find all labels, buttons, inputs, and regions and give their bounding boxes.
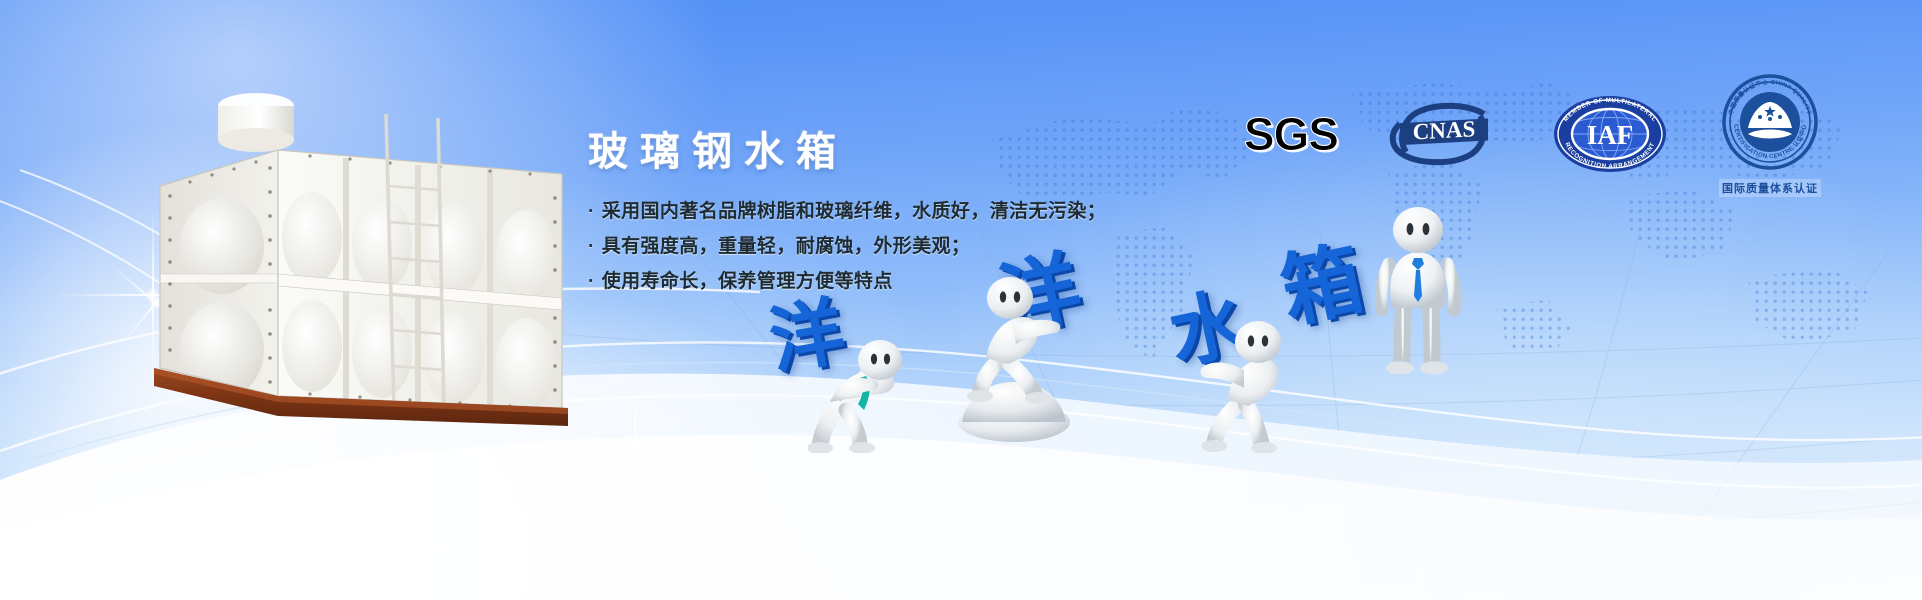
product-image-frp-water-tank: [150, 78, 570, 438]
cert-logo-sgs: SGS: [1244, 111, 1338, 157]
mascot-figure-bowing-green-tie: [808, 318, 918, 453]
bullet-text: 具有强度高，重量轻，耐腐蚀，外形美观；: [602, 236, 971, 257]
list-item: ·具有强度高，重量轻，耐腐蚀，外形美观；: [588, 229, 1228, 264]
sgs-wordmark: SGS: [1244, 111, 1338, 157]
iaf-icon: IAF MEMBER OF MULTILATERAL RECOGNITION A…: [1548, 94, 1672, 174]
iaf-wordmark: IAF: [1587, 120, 1634, 150]
bullet-text: 采用国内著名品牌树脂和玻璃纤维，水质好，清洁无污染；: [602, 201, 1106, 222]
bullet-marker: ·: [588, 194, 595, 229]
cert-logo-quality-system: 中国质量认证中心 CHINA QUALITY CERTIFICATION CEN…: [1718, 70, 1822, 197]
bullet-text: 使用寿命长，保养管理方便等特点: [602, 271, 893, 292]
frp-water-tank-illustration: [150, 78, 570, 438]
mascot-figure-on-rock: [952, 264, 1082, 444]
quality-system-caption: 国际质量体系认证: [1719, 179, 1821, 197]
list-item: ·使用寿命长，保养管理方便等特点: [588, 264, 1228, 299]
quality-system-seal-icon: 中国质量认证中心 CHINA QUALITY CERTIFICATION CEN…: [1718, 70, 1822, 174]
certification-logo-row: SGS CNAS: [1244, 70, 1822, 197]
page-title: 玻璃钢水箱: [588, 132, 1228, 172]
cert-logo-iaf: IAF MEMBER OF MULTILATERAL RECOGNITION A…: [1548, 94, 1672, 174]
banner-text-block: 玻璃钢水箱 ·采用国内著名品牌树脂和玻璃纤维，水质好，清洁无污染； ·具有强度高…: [588, 132, 1228, 299]
cnas-wordmark: CNAS: [1413, 115, 1476, 144]
list-item: ·采用国内著名品牌树脂和玻璃纤维，水质好，清洁无污染；: [588, 194, 1228, 229]
cert-logo-cnas: CNAS: [1384, 94, 1502, 174]
feature-bullet-list: ·采用国内著名品牌树脂和玻璃纤维，水质好，清洁无污染； ·具有强度高，重量轻，耐…: [588, 194, 1228, 299]
mascot-char-4: 箱: [1275, 239, 1370, 334]
cnas-icon: CNAS: [1384, 94, 1502, 174]
bullet-marker: ·: [588, 264, 595, 299]
bullet-marker: ·: [588, 229, 595, 264]
promotional-banner: 玻璃钢水箱 ·采用国内著名品牌树脂和玻璃纤维，水质好，清洁无污染； ·具有强度高…: [0, 0, 1922, 600]
sparkle-3: [560, 380, 710, 510]
mascot-figure-standing-blue-tie: [1362, 200, 1472, 380]
